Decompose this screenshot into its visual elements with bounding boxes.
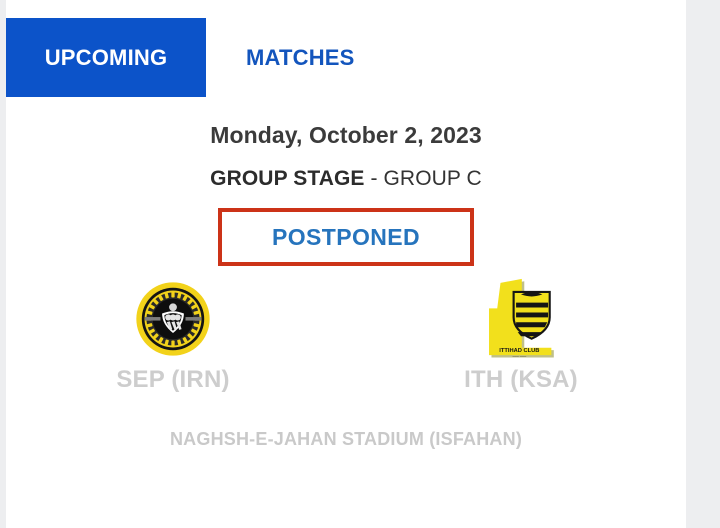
match-stage: GROUP STAGE - GROUP C [6, 167, 686, 191]
status-badge[interactable]: POSTPONED [218, 208, 474, 266]
team-away-name: ITH (KSA) [406, 366, 636, 394]
team-home-crest [58, 278, 288, 360]
tab-matches[interactable]: MATCHES [224, 18, 377, 97]
team-away[interactable]: ITTIHAD CLUB ‒‒‒ ‒‒‒ ITH (KSA) [406, 278, 636, 394]
svg-text:‒‒‒ ‒‒‒: ‒‒‒ ‒‒‒ [513, 355, 528, 359]
match-stage-group: - GROUP C [365, 167, 482, 190]
match-date: Monday, October 2, 2023 [6, 122, 686, 149]
page-edge-strip-right [686, 0, 720, 528]
sepahan-crest-icon [134, 280, 212, 358]
ittihad-crest-text: ITTIHAD CLUB [499, 348, 539, 354]
tab-bar: UPCOMING MATCHES [6, 18, 377, 97]
status-row: POSTPONED [6, 208, 686, 266]
tab-upcoming[interactable]: UPCOMING [6, 18, 206, 97]
ittihad-crest-icon: ITTIHAD CLUB ‒‒‒ ‒‒‒ [483, 278, 559, 360]
match-page: UPCOMING MATCHES Monday, October 2, 2023… [6, 0, 686, 528]
match-stage-name: GROUP STAGE [210, 167, 364, 190]
team-away-crest: ITTIHAD CLUB ‒‒‒ ‒‒‒ [406, 278, 636, 360]
status-badge-label: POSTPONED [272, 224, 420, 251]
match-venue: NAGHSH-E-JAHAN STADIUM (ISFAHAN) [6, 429, 686, 450]
team-home-name: SEP (IRN) [58, 366, 288, 394]
match-card[interactable]: Monday, October 2, 2023 GROUP STAGE - GR… [6, 97, 686, 450]
team-home[interactable]: SEP (IRN) [58, 278, 288, 394]
tab-upcoming-label: UPCOMING [45, 45, 168, 71]
teams-row: SEP (IRN) [6, 278, 686, 403]
tab-matches-label: MATCHES [246, 45, 355, 71]
